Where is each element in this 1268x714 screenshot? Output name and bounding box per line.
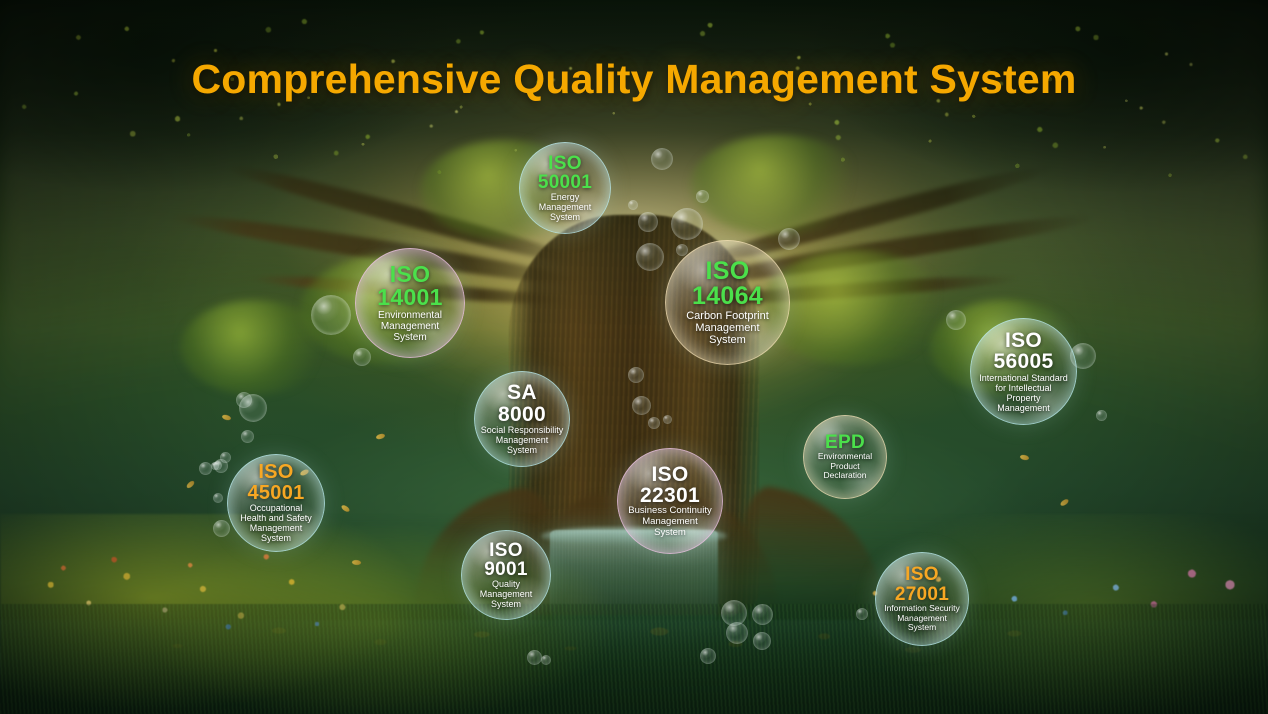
decorative-bubble [638,212,658,232]
standard-desc-line3: System [501,445,543,455]
decorative-bubble [671,208,703,240]
standard-desc-line2: for Intellectual [989,383,1057,393]
standard-code-line1: ISO [706,259,750,285]
standard-desc-line3: System [648,528,692,539]
standard-code-line2: 22301 [640,485,700,506]
decorative-bubble [353,348,371,366]
standard-desc-line3: System [902,623,942,633]
decorative-bubble [1096,410,1107,421]
standard-code-line1: EPD [825,433,865,452]
standard-desc-line1: Environmental [372,310,448,321]
standard-desc-line4: Management [991,403,1056,413]
standard-desc-line1: Quality [486,579,526,589]
falling-leaf [221,413,231,421]
standard-desc-line1: Occupational [244,503,309,513]
falling-leaf [1019,454,1029,462]
decorative-bubble [648,417,660,429]
decorative-bubble [726,622,748,644]
standard-code-line1: ISO [390,263,431,286]
standard-bubble-iso-22301[interactable]: ISO 22301 Business Continuity Management… [617,448,723,554]
standard-bubble-iso-14064[interactable]: ISO 14064 Carbon Footprint Management Sy… [665,240,790,365]
standard-desc-line2: Management [533,202,598,212]
decorative-bubble [696,190,709,203]
standard-code-line2: 27001 [895,585,949,604]
standard-code-line1: ISO [548,154,582,173]
standard-desc-line2: Management [490,435,555,445]
decorative-bubble [632,396,651,415]
decorative-bubble [752,604,773,625]
decorative-bubble [241,430,254,443]
decorative-bubble [527,650,542,665]
decorative-bubble [628,200,638,210]
standard-code-line1: ISO [258,462,293,482]
standard-desc-line1: International Standard [973,373,1074,383]
decorative-bubble [636,243,664,271]
standard-desc-line1: Energy [545,192,586,202]
standard-code-line1: SA [507,382,537,403]
standard-code-line1: ISO [651,464,688,485]
foliage-clump [690,135,865,235]
grass-blades [0,604,1268,714]
standard-desc-line1: Carbon Footprint [680,310,775,322]
decorative-bubble [628,367,644,383]
standard-desc-line2: Health and Safety [234,513,318,523]
standard-code-line2: 9001 [484,560,527,579]
standard-code-line2: 14064 [692,284,763,310]
standard-code-line1: ISO [1005,330,1042,351]
standard-desc-line3: System [485,599,527,609]
decorative-bubble [199,462,212,475]
standard-code-line2: 56005 [994,351,1054,372]
infographic-canvas: Comprehensive Quality Management System … [0,0,1268,714]
standard-code-line2: 14001 [377,286,442,309]
standard-desc-line3: System [387,332,432,343]
standard-desc-line2: Management [375,321,445,332]
decorative-bubble [541,655,551,665]
standard-desc-line1: Social Responsibility [475,425,570,435]
standard-bubble-iso-45001[interactable]: ISO 45001 Occupational Health and Safety… [227,454,325,552]
standard-bubble-sa-8000[interactable]: SA 8000 Social Responsibility Management… [474,371,570,467]
decorative-bubble [778,228,800,250]
standard-bubble-iso-14001[interactable]: ISO 14001 Environmental Management Syste… [355,248,465,358]
standard-desc-line3: System [544,212,586,222]
decorative-bubble [856,608,868,620]
standard-bubble-iso-50001[interactable]: ISO 50001 Energy Management System [519,142,611,234]
standard-bubble-iso-56005[interactable]: ISO 56005 International Standard for Int… [970,318,1077,425]
decorative-bubble [700,648,716,664]
standard-desc-line3: Management [244,523,309,533]
standard-desc-line2: Management [689,322,765,334]
decorative-bubble [663,415,672,424]
standard-desc-line3: Declaration [818,471,873,481]
standard-desc-line4: System [255,533,297,543]
decorative-bubble [651,148,673,170]
standard-bubble-iso-9001[interactable]: ISO 9001 Quality Management System [461,530,551,620]
decorative-bubble [236,392,252,408]
standard-desc-line3: Property [1000,393,1046,403]
standard-code-line1: ISO [489,541,523,560]
decorative-bubble [211,462,219,470]
standard-code-line2: 45001 [247,483,304,503]
falling-leaf [185,480,195,489]
falling-leaf [1059,498,1069,506]
decorative-bubble [311,295,351,335]
standard-code-line1: ISO [905,565,939,584]
decorative-bubble [946,310,966,330]
foliage-clump [180,300,330,395]
standard-code-line2: 8000 [498,404,546,425]
standard-code-line2: 50001 [538,173,592,192]
decorative-bubble [213,520,230,537]
falling-leaf [376,433,386,439]
standard-bubble-epd[interactable]: EPD Environmental Product Declaration [803,415,887,499]
standard-bubble-iso-27001[interactable]: ISO 27001 Information Security Managemen… [875,552,969,646]
standard-desc-line2: Management [474,589,539,599]
decorative-bubble [213,493,223,503]
falling-leaf [340,504,350,514]
decorative-bubble [753,632,771,650]
standard-desc-line3: System [703,334,752,346]
page-title: Comprehensive Quality Management System [0,56,1268,103]
